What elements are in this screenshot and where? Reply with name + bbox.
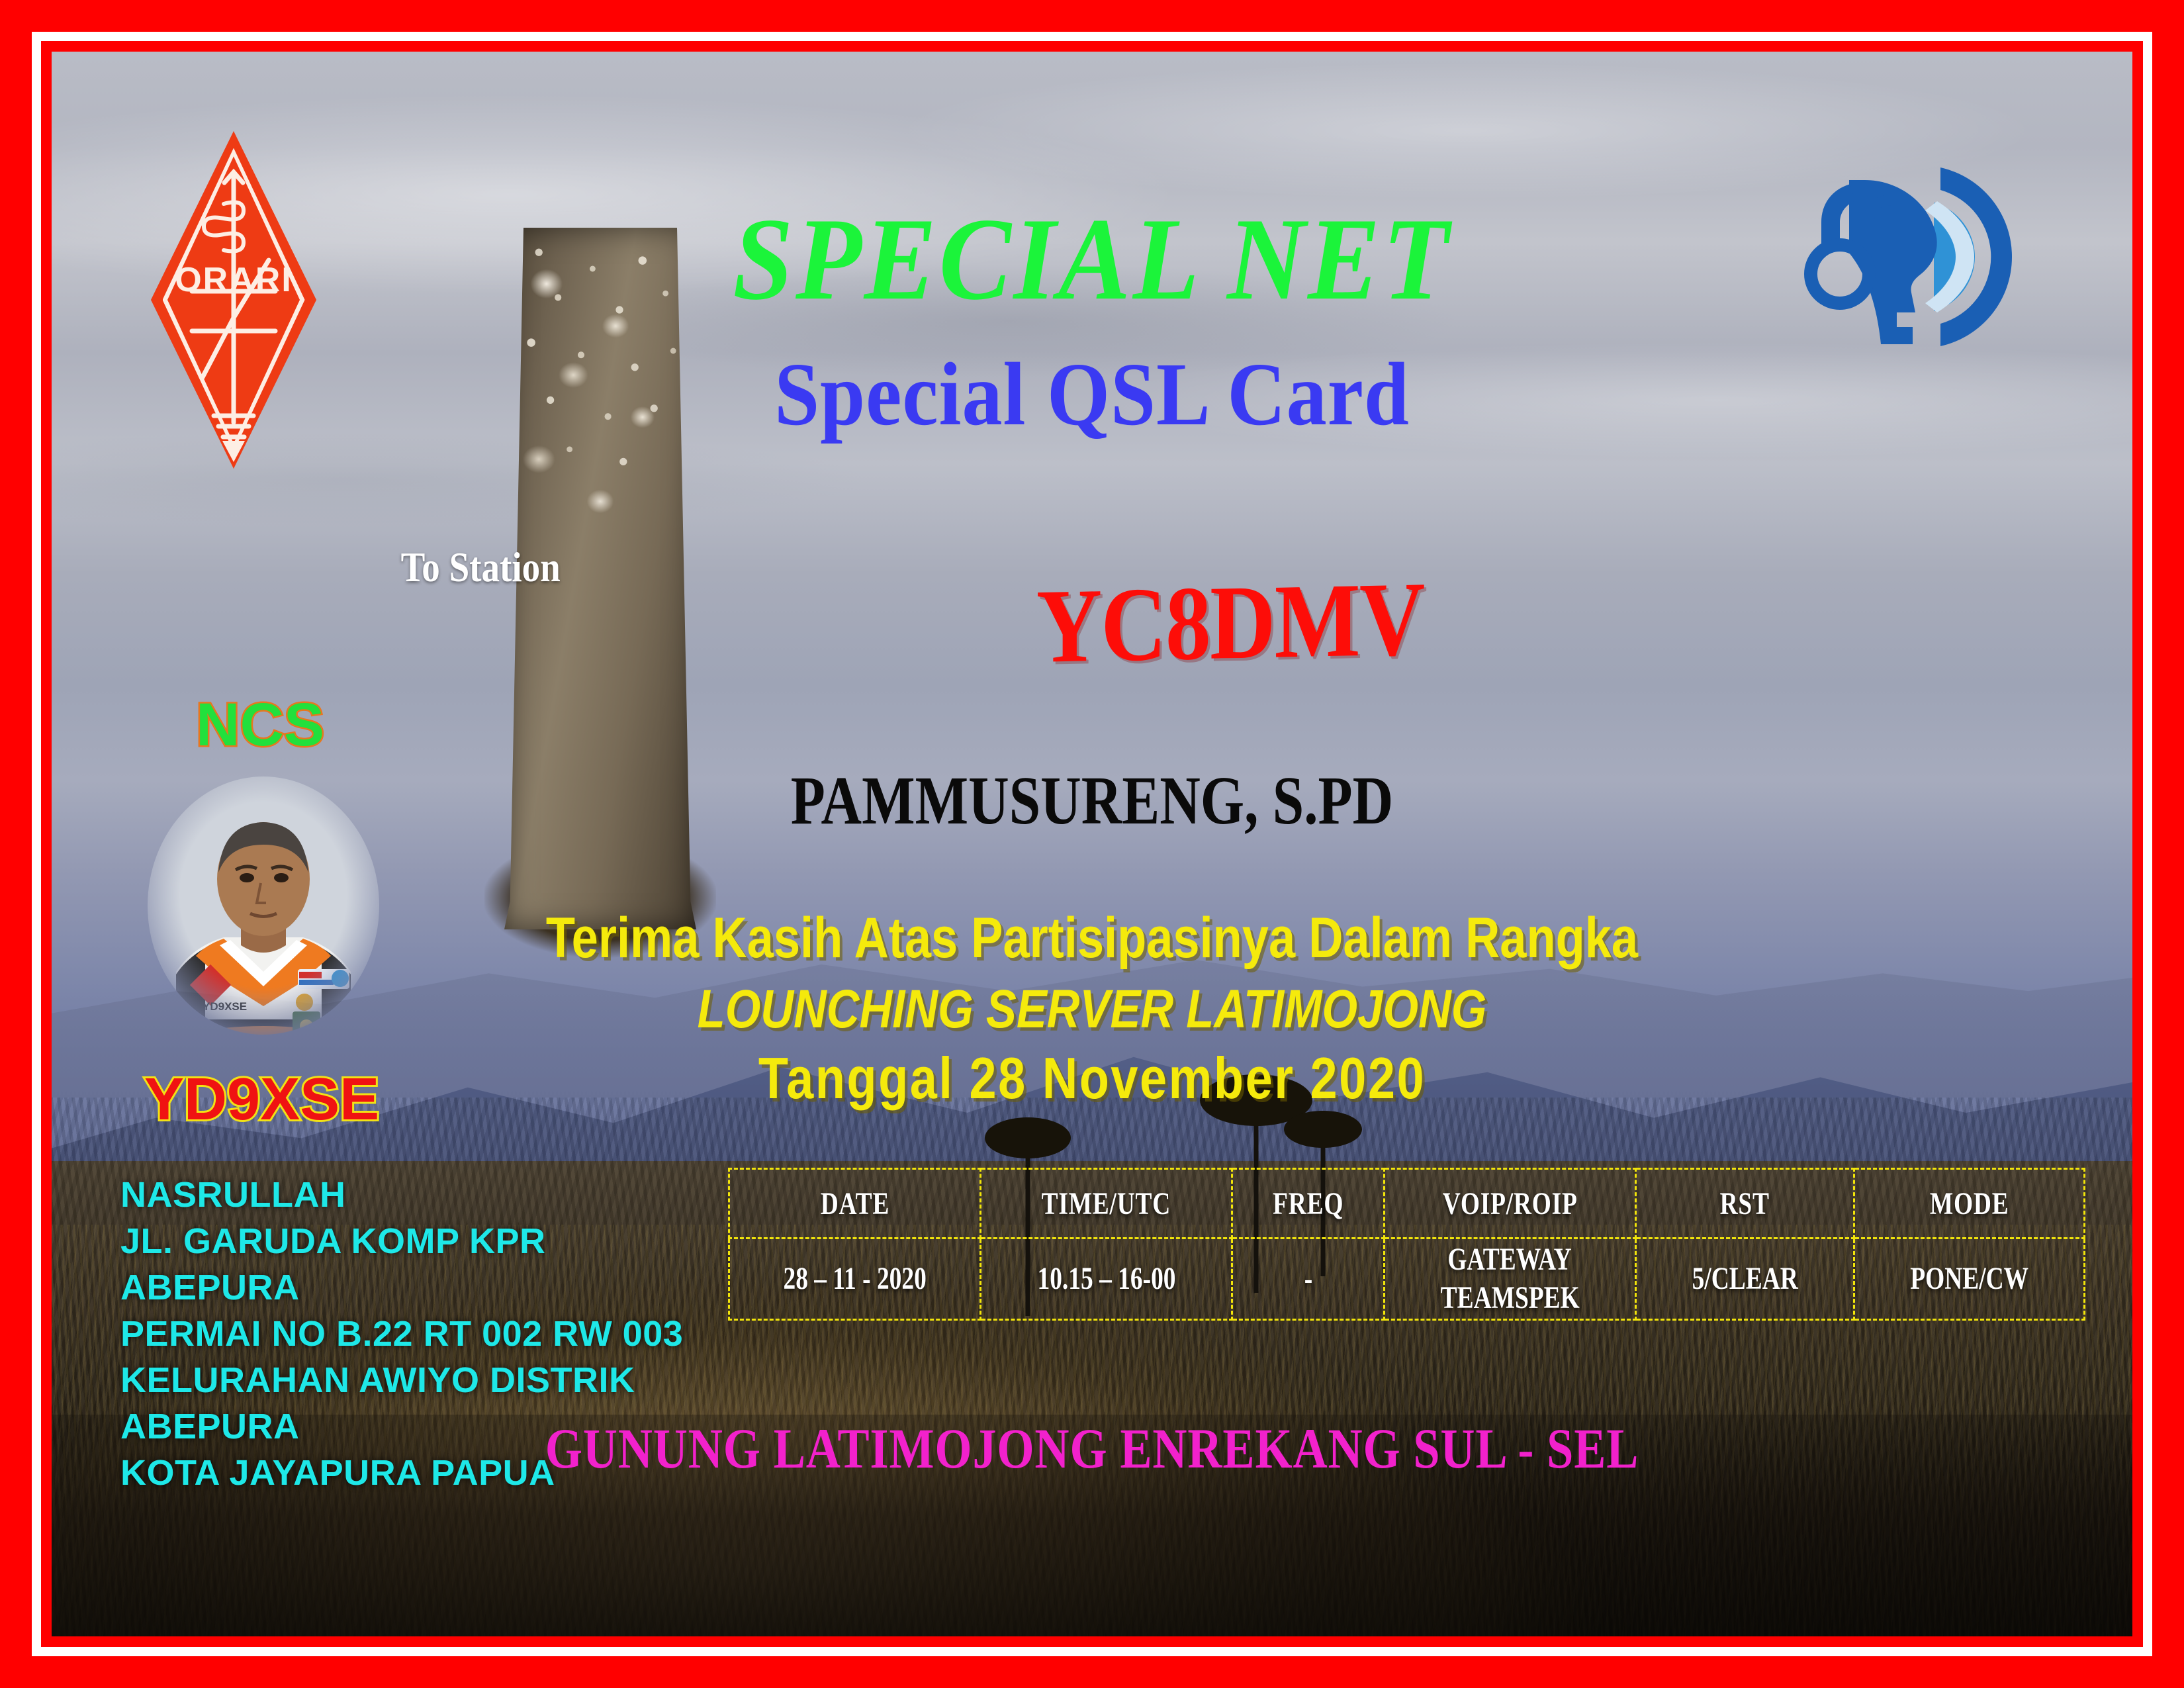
column-header-mode: MODE (1854, 1169, 2085, 1239)
column-header-time: TIME/UTC (981, 1169, 1232, 1239)
address-line: PERMAI NO B.22 RT 002 RW 003 (120, 1311, 683, 1357)
ncs-callsign: YD9XSE (144, 1066, 379, 1134)
thanks-line: Terima Kasih Atas Partisipasinya Dalam R… (218, 906, 1966, 971)
page-title: SPECIAL NET (135, 191, 2049, 327)
address-line: NASRULLAH (120, 1172, 683, 1218)
event-line: LOUNCHING SERVER LATIMOJONG (218, 978, 1966, 1041)
address-line: ABEPURA (120, 1403, 683, 1450)
cell-time: 10.15 – 16-00 (981, 1239, 1232, 1320)
address-line: KOTA JAYAPURA PAPUA (120, 1450, 683, 1496)
cell-mode: PONE/CW (1854, 1239, 2085, 1320)
column-header-rst: RST (1636, 1169, 1854, 1239)
column-header-voip: VOIP/ROIP (1385, 1169, 1636, 1239)
ncs-operator-photo: YD9XSE (124, 773, 402, 1051)
cell-voip: GATEWAY TEAMSPEK (1385, 1239, 1636, 1320)
svg-text:YD9XSE: YD9XSE (203, 1000, 247, 1013)
column-header-freq: FREQ (1232, 1169, 1385, 1239)
page-subtitle: Special QSL Card (156, 343, 2028, 446)
card-photo-background: ORARI SPECIAL NET Special QSL Card To St… (52, 52, 2132, 1636)
tree-canopy (1284, 1111, 1362, 1148)
postal-address: NASRULLAH JL. GARUDA KOMP KPR ABEPURA PE… (120, 1172, 683, 1496)
qso-log-table: DATE TIME/UTC FREQ VOIP/ROIP RST MODE 28… (728, 1168, 2085, 1321)
footer-web-address: Address : amatir.latimojong.com (1322, 1634, 1886, 1636)
station-callsign: YC8DMV (1036, 557, 1424, 688)
qsl-card: ORARI SPECIAL NET Special QSL Card To St… (0, 0, 2184, 1688)
address-line: ABEPURA (120, 1264, 683, 1311)
table-header-row: DATE TIME/UTC FREQ VOIP/ROIP RST MODE (729, 1169, 2085, 1239)
cell-rst: 5/CLEAR (1636, 1239, 1854, 1320)
stone-monument (488, 228, 707, 956)
cell-date: 28 – 11 - 2020 (729, 1239, 981, 1320)
tree-canopy (985, 1117, 1071, 1158)
address-line: KELURAHAN AWIYO DISTRIK (120, 1357, 683, 1403)
ncs-label: NCS (196, 690, 324, 760)
event-date-line: Tanggal 28 November 2020 (218, 1045, 1966, 1112)
cell-freq: - (1232, 1239, 1385, 1320)
address-line: JL. GARUDA KOMP KPR (120, 1218, 683, 1264)
operator-name: PAMMUSURENG, S.PD (239, 761, 1945, 840)
to-station-label: To Station (401, 543, 561, 592)
table-row: 28 – 11 - 2020 10.15 – 16-00 - GATEWAY T… (729, 1239, 2085, 1320)
column-header-date: DATE (729, 1169, 981, 1239)
